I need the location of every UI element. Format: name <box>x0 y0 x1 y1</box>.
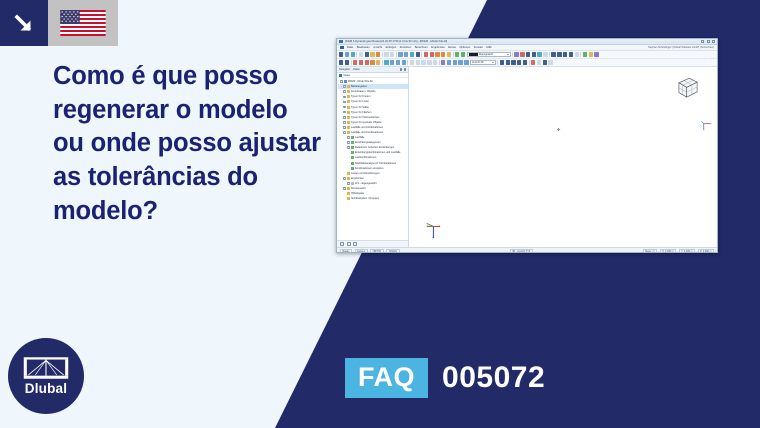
navigator-panel[interactable]: Navigator Daten Daten -RFEM - Model File… <box>337 67 409 247</box>
dlubal-logo: Dlubal <box>8 338 84 414</box>
app-toolbar-row-1[interactable]: Eigengewicht <box>337 51 717 59</box>
select-window-icon[interactable] <box>345 60 349 64</box>
line-style-swatch <box>469 53 478 56</box>
chevron-down-icon[interactable] <box>492 62 494 63</box>
tree-item-label: Lastfälle und Kombinationen <box>351 131 383 134</box>
viewport-axis-indicator-icon <box>701 119 715 133</box>
tree-item-label: Lastkombinationen <box>355 156 376 159</box>
folder-icon <box>347 177 350 180</box>
tree-item-label: RFEM - Model File All <box>348 80 373 83</box>
poster-canvas: Como é que posso regenerar o modelo ou o… <box>0 0 760 428</box>
redo-icon[interactable] <box>390 52 394 56</box>
tree-item-label: Typen für Knoten <box>351 95 370 98</box>
open-file-icon[interactable] <box>345 52 349 56</box>
toolbar-separator <box>439 60 440 65</box>
maximize-icon[interactable] <box>707 40 710 43</box>
print-icon[interactable] <box>359 52 363 56</box>
navigator-tabs[interactable]: Navigator Daten <box>337 67 408 73</box>
visibility-icon[interactable] <box>410 60 414 64</box>
internal-forces-icon[interactable] <box>506 60 510 64</box>
faq-number: 005072 <box>442 363 545 393</box>
tree-item-label: Einwirkungskategorien <box>355 141 381 144</box>
dlubal-truss-icon <box>23 356 69 380</box>
folder-icon <box>347 100 350 103</box>
divide-icon[interactable] <box>384 60 388 64</box>
status-coordinate-z: Z: 0.000 m <box>698 249 714 254</box>
window-controls[interactable] <box>701 40 715 43</box>
status-coordinate-y: Y: 0.000 m <box>679 249 695 254</box>
navigator-tree[interactable]: -RFEM - Model File All+Basisangaben+Koor… <box>337 78 408 240</box>
status-coordinate-x: X: 0.000 m <box>660 249 677 254</box>
rfem-application-window: RFEM 6 Dynamik geschlossen24 20.05.1730 … <box>336 38 718 253</box>
mirror-icon[interactable] <box>365 60 369 64</box>
status-badge: FAQ <box>345 358 428 398</box>
case-icon <box>351 136 354 139</box>
user-label: Stephan Schrödinger | Dlubal Software Gm… <box>648 46 714 49</box>
collapse-icon[interactable]: - <box>343 131 346 134</box>
menu-item-ergebnisse[interactable]: Ergebnisse <box>431 46 444 49</box>
expand-icon <box>343 197 346 200</box>
status-unit: Meter, m <box>643 249 657 254</box>
expand-icon[interactable]: + <box>343 96 346 99</box>
node-icon[interactable] <box>543 52 547 56</box>
folder-icon <box>347 197 350 200</box>
folder-icon <box>347 192 350 195</box>
expand-icon[interactable]: + <box>347 146 350 149</box>
expand-icon[interactable]: + <box>343 106 346 109</box>
copy-icon[interactable] <box>370 52 374 56</box>
menu-item-datei[interactable]: Datei <box>347 46 353 49</box>
folder-icon <box>347 172 350 175</box>
navigator-panel-controls[interactable] <box>400 68 407 71</box>
us-flag-icon <box>48 0 118 46</box>
case-icon <box>351 156 354 159</box>
view-rotate-icon[interactable] <box>464 60 468 64</box>
navigator-settings-button[interactable] <box>353 242 357 246</box>
view-front-icon[interactable] <box>441 60 445 64</box>
expand-icon[interactable]: + <box>343 101 346 104</box>
menu-item-fenster[interactable]: Fenster <box>474 46 483 49</box>
navigator-subtitle: Daten <box>344 74 351 77</box>
toolbar-separator <box>453 52 454 57</box>
table-icon[interactable] <box>410 52 414 56</box>
case-icon <box>351 146 354 149</box>
new-file-icon[interactable] <box>339 52 343 56</box>
tree-item-label: Ergebnisse <box>351 177 364 180</box>
wireframe-icon[interactable] <box>461 52 465 56</box>
expand-icon <box>347 162 350 165</box>
tree-item-label: Basisangaben <box>351 85 367 88</box>
pan-icon[interactable] <box>447 52 451 56</box>
tree-item-label: Druckansicht <box>351 187 366 190</box>
folder-icon <box>347 111 350 114</box>
statusbar-left-group[interactable]: Raster Fangen ORTHO OFANG <box>340 249 400 254</box>
expand-icon[interactable]: + <box>343 111 346 114</box>
statusbar-right-group: Meter, m X: 0.000 m Y: 0.000 m Z: 0.000 … <box>643 249 714 254</box>
solid-icon[interactable] <box>537 52 541 56</box>
folder-icon <box>347 116 350 119</box>
model-viewport[interactable]: ✢ <box>409 67 717 247</box>
pin-icon[interactable] <box>400 68 403 71</box>
folder-icon <box>347 121 350 124</box>
expand-icon <box>347 157 350 160</box>
tree-item-label: Sichtbarkeiten / Gruppen <box>351 197 379 200</box>
save-icon[interactable] <box>351 52 355 56</box>
undo-icon[interactable] <box>384 52 388 56</box>
toolbar-separator <box>549 52 550 57</box>
delete-icon[interactable] <box>531 60 535 64</box>
show-all-button[interactable] <box>340 242 344 246</box>
tree-item-label: Typen für spezielle Objekte <box>351 121 382 124</box>
show-all-icon[interactable] <box>427 60 431 64</box>
result-icon <box>351 182 354 185</box>
scale-icon[interactable] <box>370 60 374 64</box>
results-icon[interactable] <box>589 52 593 56</box>
toolbar-separator <box>512 52 513 57</box>
surface-icon[interactable] <box>532 52 536 56</box>
expand-icon[interactable]: + <box>347 182 350 185</box>
expand-icon[interactable]: + <box>347 136 350 139</box>
case-icon <box>351 167 354 170</box>
app-titlebar: RFEM 6 Dynamik geschlossen24 20.05.1730 … <box>337 39 717 45</box>
menu-item-optionen[interactable]: Optionen <box>459 46 470 49</box>
tree-item-label: Lastfälle <box>355 136 365 139</box>
xyz-axis-icon <box>425 221 443 239</box>
trim-icon[interactable] <box>390 60 394 64</box>
chevron-down-icon[interactable] <box>507 54 509 55</box>
app-statusbar: Raster Fangen ORTHO OFANG 3D - Ansicht X… <box>337 247 717 253</box>
view-mode-combo[interactable]: Ansicht 3D <box>470 60 496 65</box>
toolbar-separator <box>529 60 530 65</box>
tree-item-label: Relationen zwischen Einwirkungen <box>355 146 394 149</box>
render-icon[interactable] <box>455 52 459 56</box>
tree-item-label: LF1 - Eigengewicht <box>355 182 377 185</box>
member-icon[interactable] <box>526 52 530 56</box>
expand-icon <box>347 152 350 155</box>
toolbar-separator <box>351 60 352 65</box>
print-preview-icon[interactable] <box>365 52 369 56</box>
status-fangen[interactable]: Fangen <box>355 249 368 254</box>
logo-text: Dlubal <box>25 382 67 396</box>
expand-icon[interactable]: + <box>343 121 346 124</box>
zoom-window-icon[interactable] <box>441 52 445 56</box>
view-top-icon[interactable] <box>447 60 451 64</box>
collapse-icon[interactable]: - <box>340 80 343 83</box>
minimize-icon[interactable] <box>701 40 704 43</box>
folder-icon <box>347 126 350 129</box>
faq-footer: FAQ 005072 <box>345 358 545 398</box>
view-mode-value: Ansicht 3D <box>472 61 484 64</box>
calculate-icon[interactable] <box>583 52 587 56</box>
case-icon <box>351 162 354 165</box>
tab-daten[interactable]: Daten <box>353 68 360 71</box>
dimension-icon[interactable] <box>551 52 555 56</box>
zoom-out-icon[interactable] <box>430 52 434 56</box>
rotate-icon[interactable] <box>359 60 363 64</box>
status-ortho[interactable]: ORTHO <box>370 249 384 254</box>
tree-item-label: Einwirkungskombinationen und Lastfälle <box>355 151 400 154</box>
tree-item[interactable]: Sichtbarkeiten / Gruppen <box>338 196 408 201</box>
list-icon[interactable] <box>416 52 420 56</box>
folder-icon <box>347 187 350 190</box>
annotate-icon[interactable] <box>569 52 573 56</box>
toolbar-separator <box>356 52 357 57</box>
toolbar-separator <box>421 52 422 57</box>
expand-icon <box>343 192 346 195</box>
extend-icon[interactable] <box>396 60 400 64</box>
tab-navigator[interactable]: Navigator <box>339 68 350 71</box>
close-icon[interactable] <box>404 68 407 71</box>
status-raster[interactable]: Raster <box>340 249 352 254</box>
toolbar-separator <box>382 60 383 65</box>
paste-icon[interactable] <box>376 52 380 56</box>
app-toolbar-row-2[interactable]: Ansicht 3D <box>337 59 717 67</box>
contour-icon[interactable] <box>523 60 527 64</box>
clip-icon[interactable] <box>433 60 437 64</box>
tree-item-label: Kombinationen einstellen <box>355 167 383 170</box>
expand-icon[interactable]: + <box>343 116 346 119</box>
collapse-icon[interactable]: - <box>343 177 346 180</box>
arrow-down-right-icon <box>0 0 48 46</box>
tree-item-label: Typen für Flächen <box>351 111 371 114</box>
tree-item-label: Stabilitätsanalyse für Kombinationen <box>355 162 396 165</box>
data-tree-icon <box>339 74 342 77</box>
zoom-fit-icon[interactable] <box>435 52 439 56</box>
layers-icon[interactable] <box>575 52 579 56</box>
close-icon[interactable] <box>712 40 715 43</box>
zoom-in-icon[interactable] <box>424 52 428 56</box>
hide-icon[interactable] <box>421 60 425 64</box>
menu-item-einfuegen[interactable]: Einfügen <box>386 46 397 49</box>
expand-icon[interactable]: + <box>343 126 346 129</box>
reaction-icon[interactable] <box>517 60 521 64</box>
select-icon[interactable] <box>339 60 343 64</box>
tree-item-label: Typen für Stäbe <box>351 106 369 109</box>
line-style-value: Eigengewicht <box>479 53 493 56</box>
move-icon[interactable] <box>353 60 357 64</box>
toolbar-separator <box>382 52 383 57</box>
settings-icon[interactable] <box>543 60 547 64</box>
tree-item-label: Lastfälle und Kombinationen <box>351 126 383 129</box>
expand-icon[interactable]: + <box>343 90 346 93</box>
numbering-icon[interactable] <box>557 52 561 56</box>
toolbar-separator <box>497 60 498 65</box>
array-icon[interactable] <box>376 60 380 64</box>
load-icon[interactable] <box>514 52 518 56</box>
menu-item-hilfe[interactable]: Hilfe <box>486 46 491 49</box>
expand-icon[interactable]: + <box>343 187 346 190</box>
case-icon <box>351 141 354 144</box>
expand-icon <box>347 167 350 170</box>
app-logo-icon <box>339 40 343 44</box>
expand-icon[interactable]: + <box>347 141 350 144</box>
hide-all-button[interactable] <box>347 242 351 246</box>
stress-icon[interactable] <box>511 60 515 64</box>
line-style-combo[interactable]: Eigengewicht <box>467 52 511 57</box>
top-left-badges <box>0 0 118 46</box>
menu-item-extras[interactable]: Extras <box>448 46 456 49</box>
case-icon <box>351 151 354 154</box>
toolbar-separator <box>407 60 408 65</box>
folder-icon <box>347 90 350 93</box>
tree-item-label: Typen für Volumenkörper <box>351 116 379 119</box>
tree-item-label: Lasten und Einwirkungen <box>351 172 380 175</box>
label-icon[interactable] <box>563 52 567 56</box>
folder-icon <box>347 131 350 134</box>
measure-icon[interactable] <box>548 60 552 64</box>
view-side-icon[interactable] <box>453 60 457 64</box>
app-body: Navigator Daten Daten -RFEM - Model File… <box>337 67 717 247</box>
view-iso-icon[interactable] <box>458 60 462 64</box>
toolbar-separator <box>580 52 581 57</box>
menu-item-ansicht[interactable]: Ansicht <box>373 46 382 49</box>
regenerate-icon[interactable] <box>537 60 541 64</box>
help-icon[interactable] <box>594 52 598 56</box>
isolate-icon[interactable] <box>416 60 420 64</box>
snap-icon[interactable] <box>404 52 408 56</box>
menu-logo-icon <box>340 46 344 50</box>
deformation-icon[interactable] <box>500 60 504 64</box>
support-icon[interactable] <box>520 52 524 56</box>
menu-item-bearbeiten[interactable]: Bearbeiten <box>357 46 370 49</box>
tree-item-label: Typen für Linien <box>351 100 369 103</box>
app-title: RFEM 6 Dynamik geschlossen24 20.05.1730 … <box>345 40 448 43</box>
model-icon <box>344 80 347 83</box>
status-ofang[interactable]: OFANG <box>386 249 399 254</box>
menu-item-zuordnen[interactable]: Zuordnen <box>400 46 412 49</box>
navigator-footer[interactable] <box>337 240 408 247</box>
toolbar-separator <box>396 52 397 57</box>
expand-icon <box>343 172 346 175</box>
tree-item-label: Koordinaten / Objekte <box>351 90 376 93</box>
crosshair-pointer-icon: ✢ <box>557 127 560 132</box>
fillet-icon[interactable] <box>402 60 406 64</box>
expand-icon[interactable]: + <box>343 85 346 88</box>
folder-icon <box>347 85 350 88</box>
grid-icon[interactable] <box>398 52 402 56</box>
folder-icon <box>347 95 350 98</box>
status-view-mode: 3D - Ansicht XYZ <box>510 249 533 254</box>
page-title: Como é que posso regenerar o modelo ou o… <box>53 60 323 228</box>
folder-icon <box>347 106 350 109</box>
tree-item-label: Hilfsobjekte <box>351 192 364 195</box>
menu-item-berechnen[interactable]: Berechnen <box>415 46 428 49</box>
view-cube-icon[interactable] <box>675 75 701 101</box>
